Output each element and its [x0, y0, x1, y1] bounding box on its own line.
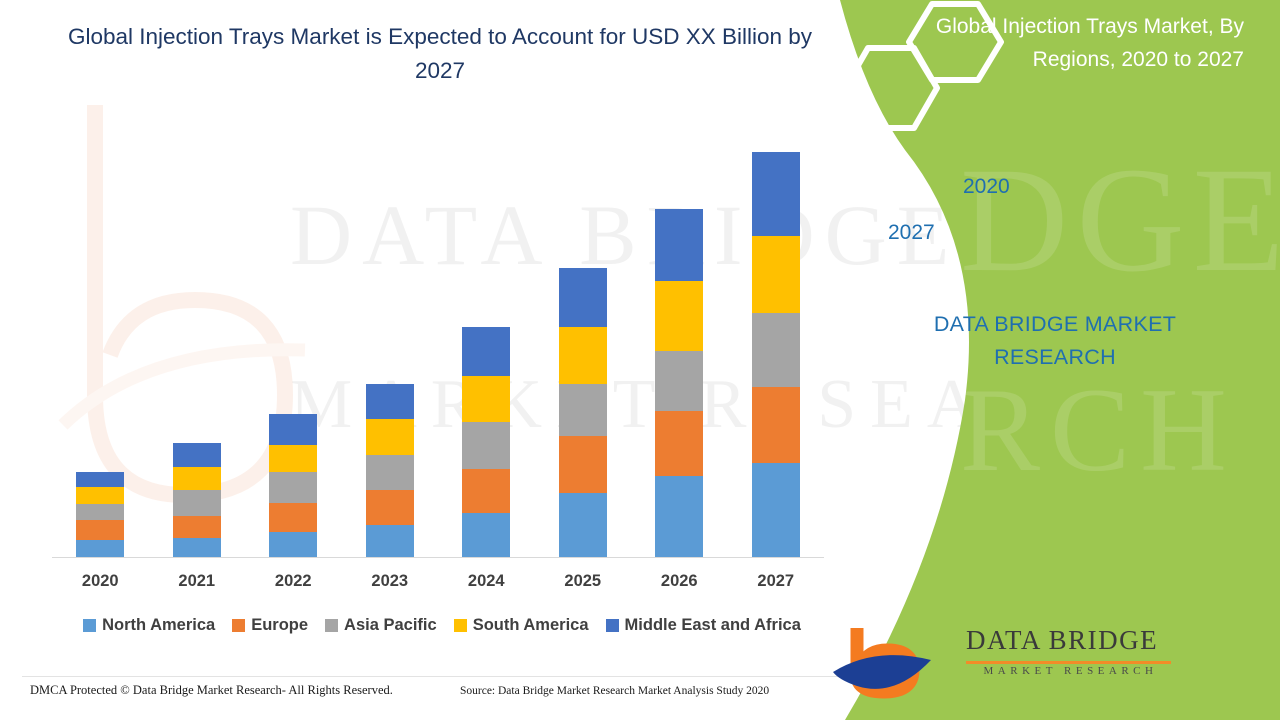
bar-column-2026: [631, 120, 728, 557]
bar-segment: [173, 490, 221, 515]
legend-label: Europe: [251, 616, 308, 635]
stacked-bar: [269, 414, 317, 557]
bar-segment: [462, 327, 510, 376]
legend-swatch-icon: [232, 619, 245, 632]
brand-name: DATA BRIDGE MARKET RESEARCH: [830, 308, 1280, 374]
legend-item[interactable]: South America: [454, 616, 589, 635]
footer-source: Source: Data Bridge Market Research Mark…: [460, 685, 769, 697]
bar-segment: [559, 327, 607, 385]
bar-column-2022: [245, 120, 342, 557]
x-axis-label-2021: 2021: [149, 572, 246, 591]
bar-segment: [76, 540, 124, 557]
bar-column-2020: [52, 120, 149, 557]
legend-swatch-icon: [83, 619, 96, 632]
legend-item[interactable]: Middle East and Africa: [606, 616, 801, 635]
stacked-bar: [366, 384, 414, 557]
footer-divider: [22, 676, 852, 677]
hexagon-pair-icon: [810, 0, 1040, 140]
legend-swatch-icon: [454, 619, 467, 632]
bar-segment: [366, 490, 414, 525]
logo-wordmark: DATA BRIDGE: [966, 625, 1158, 656]
stacked-bar-group: [52, 120, 824, 557]
bar-segment: [462, 513, 510, 557]
bar-segment: [76, 504, 124, 520]
x-axis-line: [52, 557, 824, 558]
stacked-bar: [752, 152, 800, 557]
bar-segment: [752, 463, 800, 557]
legend-swatch-icon: [325, 619, 338, 632]
infographic-canvas: DATA BRIDGE MARKET RESEARCH Global Injec…: [0, 0, 1280, 720]
legend-label: South America: [473, 616, 589, 635]
bar-segment: [173, 443, 221, 467]
bar-segment: [269, 414, 317, 445]
x-axis-label-2022: 2022: [245, 572, 342, 591]
stacked-bar: [655, 209, 703, 557]
legend-label: Asia Pacific: [344, 616, 437, 635]
stacked-bar: [462, 327, 510, 557]
bar-segment: [752, 313, 800, 386]
x-axis-label-2025: 2025: [535, 572, 632, 591]
x-axis-label-2020: 2020: [52, 572, 149, 591]
bar-segment: [173, 516, 221, 539]
bar-segment: [269, 503, 317, 531]
bar-column-2023: [342, 120, 439, 557]
bar-segment: [559, 384, 607, 435]
bar-segment: [752, 236, 800, 314]
bar-column-2024: [438, 120, 535, 557]
brand-name-line-2: RESEARCH: [994, 345, 1116, 369]
bar-segment: [655, 351, 703, 411]
data-bridge-logo: DATA BRIDGE MARKET RESEARCH: [827, 620, 1247, 700]
bar-segment: [366, 384, 414, 419]
bar-segment: [462, 469, 510, 514]
chart-legend: North AmericaEuropeAsia PacificSouth Ame…: [52, 616, 832, 635]
x-axis-label-2024: 2024: [438, 572, 535, 591]
bar-segment: [366, 525, 414, 557]
x-axis-label-2026: 2026: [631, 572, 728, 591]
legend-label: North America: [102, 616, 215, 635]
x-axis-labels: 20202021202220232024202520262027: [52, 572, 824, 591]
bar-segment: [76, 487, 124, 503]
legend-item[interactable]: Asia Pacific: [325, 616, 437, 635]
bar-segment: [269, 472, 317, 504]
bar-segment: [559, 436, 607, 493]
bar-segment: [655, 281, 703, 351]
bar-segment: [752, 152, 800, 236]
bar-segment: [366, 455, 414, 490]
logo-tagline: MARKET RESEARCH: [968, 665, 1173, 677]
bar-segment: [655, 411, 703, 477]
bar-segment: [559, 268, 607, 327]
hex-label-2020: 2020: [963, 175, 1010, 199]
bar-segment: [76, 472, 124, 487]
bar-segment: [366, 419, 414, 455]
stacked-bar: [173, 443, 221, 557]
bar-segment: [269, 532, 317, 557]
chart-title: Global Injection Trays Market is Expecte…: [60, 20, 820, 88]
brand-panel: DGE RCH Global Injection Trays Market, B…: [810, 0, 1280, 720]
bar-column-2025: [535, 120, 632, 557]
legend-swatch-icon: [606, 619, 619, 632]
chart-plot-area: [52, 120, 824, 558]
svg-text:DGE: DGE: [960, 137, 1280, 303]
stacked-bar: [559, 268, 607, 557]
x-axis-label-2023: 2023: [342, 572, 439, 591]
logo-mark-icon: [827, 620, 957, 700]
bar-segment: [462, 376, 510, 422]
bar-segment: [655, 476, 703, 557]
legend-label: Middle East and Africa: [625, 616, 801, 635]
footer-copyright: DMCA Protected © Data Bridge Market Rese…: [30, 683, 393, 698]
stacked-bar: [76, 472, 124, 557]
hex-label-2027: 2027: [888, 221, 935, 245]
bar-segment: [76, 520, 124, 540]
legend-item[interactable]: Europe: [232, 616, 308, 635]
bar-segment: [752, 387, 800, 463]
bar-segment: [655, 209, 703, 281]
brand-name-line-1: DATA BRIDGE MARKET: [934, 312, 1176, 336]
bar-segment: [462, 422, 510, 469]
legend-item[interactable]: North America: [83, 616, 215, 635]
bar-segment: [173, 467, 221, 490]
bar-segment: [173, 538, 221, 557]
bar-segment: [269, 445, 317, 472]
logo-underline: [966, 661, 1171, 664]
bar-segment: [559, 493, 607, 557]
bar-column-2021: [149, 120, 246, 557]
svg-text:RCH: RCH: [960, 363, 1237, 496]
